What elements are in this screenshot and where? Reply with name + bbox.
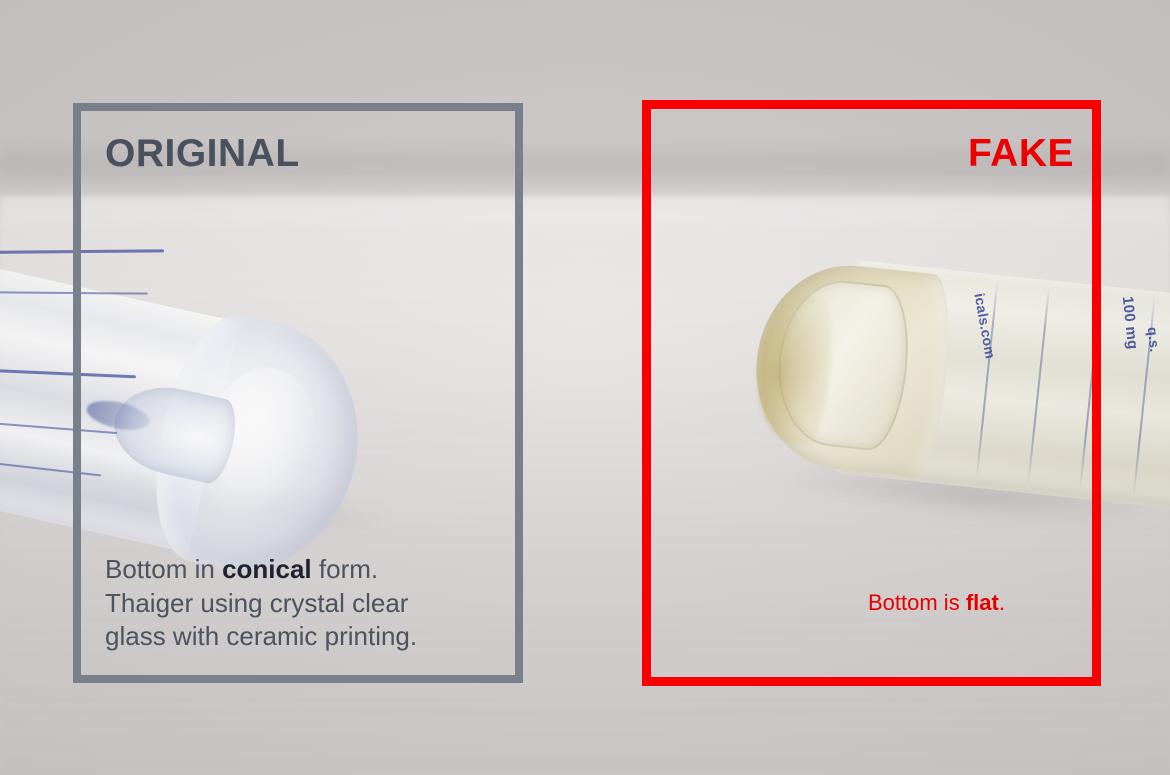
caption-line: Thaiger using crystal clear — [105, 587, 525, 621]
caption-emphasis: conical — [222, 554, 312, 584]
caption-line: glass with ceramic printing. — [105, 620, 525, 654]
fake-title: FAKE — [968, 134, 1074, 173]
original-title: ORIGINAL — [105, 134, 300, 173]
caption-emphasis: flat — [966, 590, 999, 615]
fake-caption: Bottom is flat. — [868, 589, 1108, 617]
original-caption: Bottom in conical form.Thaiger using cry… — [105, 553, 525, 654]
caption-line: Bottom is flat. — [868, 589, 1108, 617]
comparison-graphic: Please consult Authenticate www.thaiger … — [0, 0, 1170, 775]
caption-line: Bottom in conical form. — [105, 553, 525, 587]
